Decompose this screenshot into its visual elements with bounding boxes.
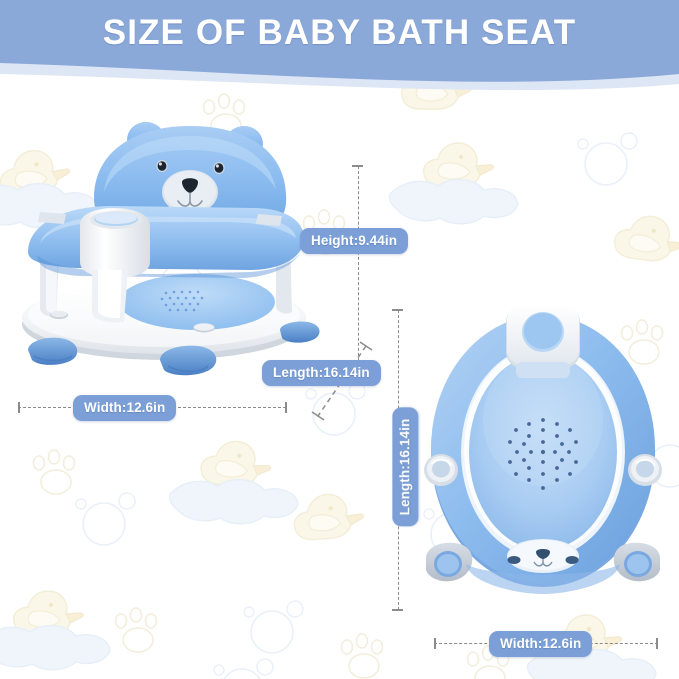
length-label-front-view: Length:16.14in <box>262 360 381 386</box>
width-label-front-view: Width:12.6in <box>73 395 176 421</box>
length-label-top-view: Length:16.14in <box>392 408 418 527</box>
page-title: SIZE OF BABY BATH SEAT <box>0 13 679 53</box>
top-view-width-tick-left <box>434 638 436 649</box>
height-tick-top <box>352 165 363 167</box>
top-view-length-tick-top <box>392 309 403 311</box>
height-dimension-line <box>358 166 359 366</box>
width-label-top-view: Width:12.6in <box>489 631 592 657</box>
product-size-infographic: SIZE OF BABY BATH SEAT <box>0 0 679 679</box>
baby-bath-seat-top-view <box>418 302 668 612</box>
width-tick-right <box>285 402 287 413</box>
top-view-width-tick-right <box>656 638 658 649</box>
width-tick-left <box>18 402 20 413</box>
top-view-length-tick-bottom <box>392 609 403 611</box>
height-label-front-view: Height:9.44in <box>300 228 408 254</box>
